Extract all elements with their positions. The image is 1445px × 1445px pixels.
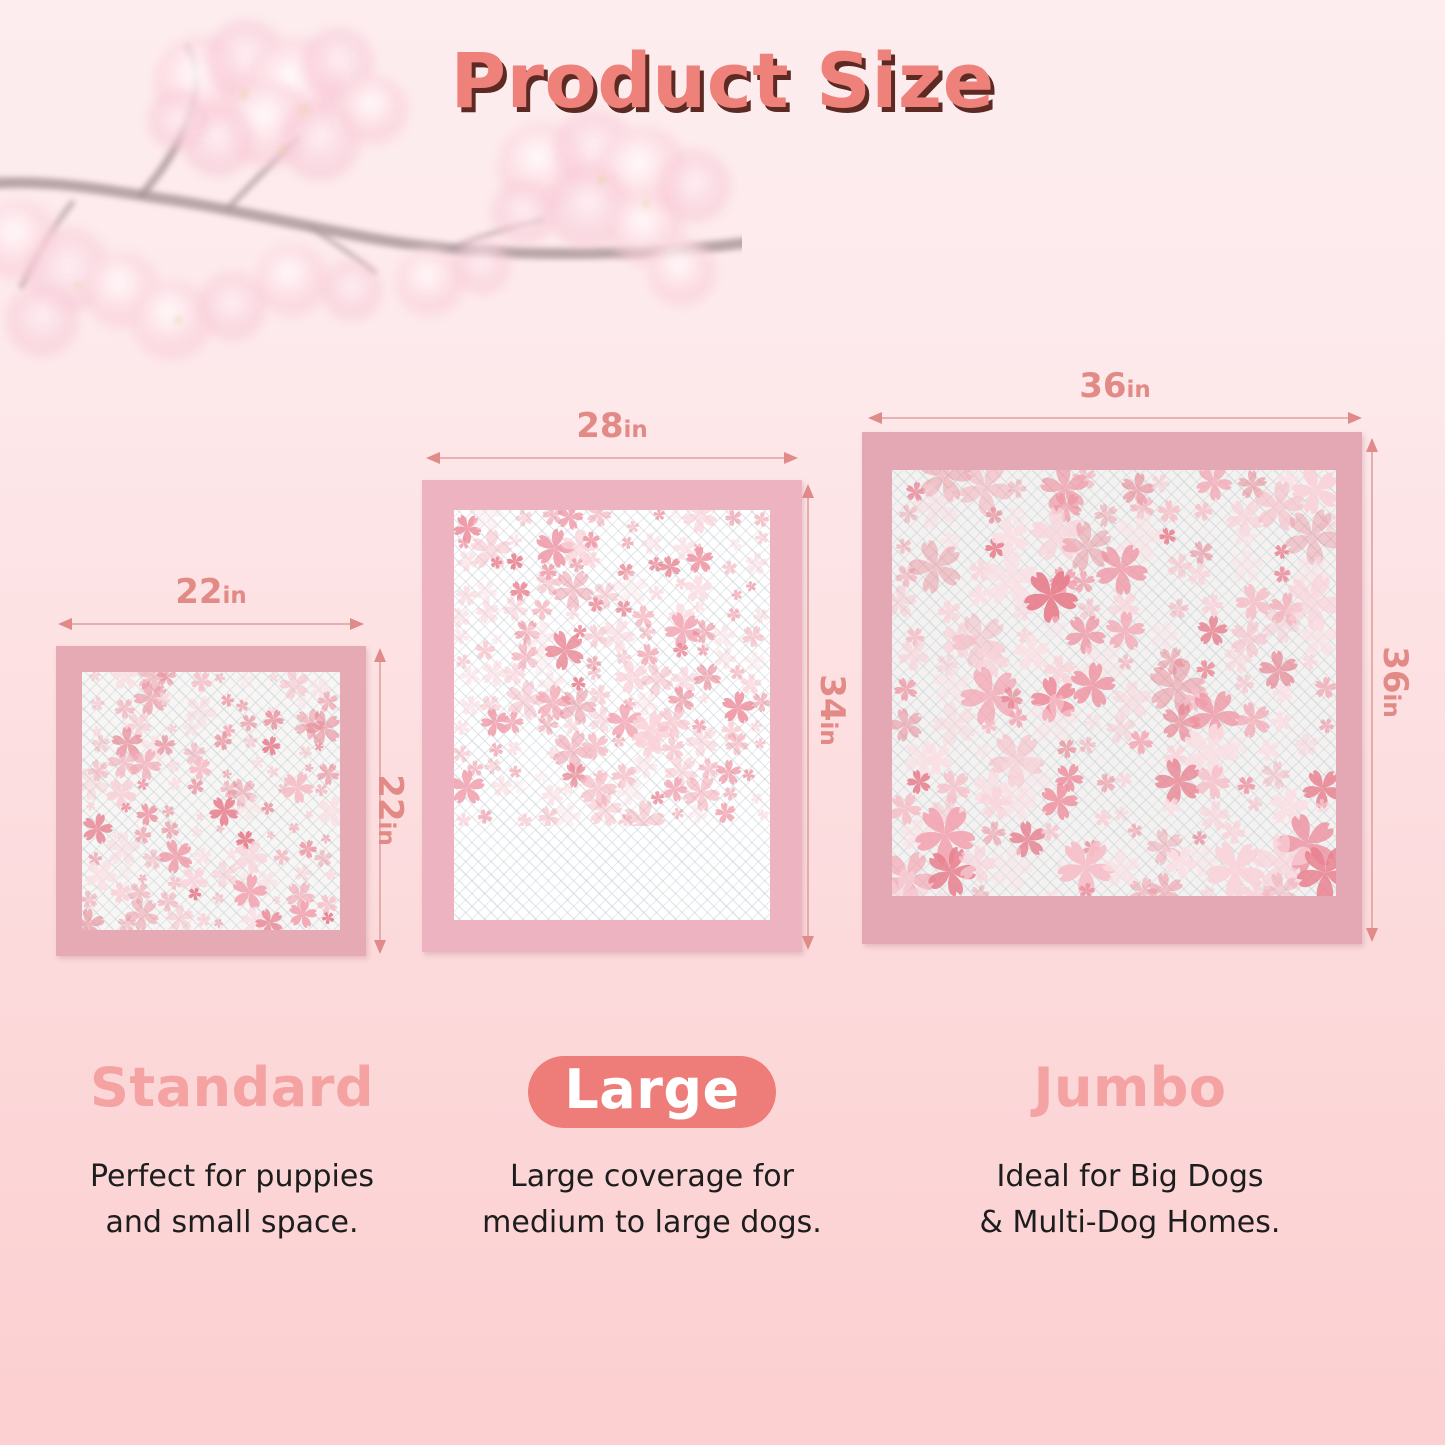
dimension-line-standard-width [56,612,366,636]
dimension-line-large-width [424,446,800,470]
description-line: and small space. [22,1200,442,1246]
sakura-pattern-standard [82,672,340,930]
description-line: Ideal for Big Dogs [920,1154,1340,1200]
product-name-large: Large [528,1056,775,1128]
dimension-label-jumbo-height: 36in [1375,627,1415,737]
pad-image-large [422,480,802,952]
sakura-pattern-large [454,510,770,826]
pad-inner-standard [82,672,340,930]
product-description-large: Large coverage for medium to large dogs. [442,1154,862,1246]
dimension-label-standard-width: 22in [56,572,366,612]
product-name-jumbo: Jumbo [920,1056,1340,1128]
product-labels-row: Standard Perfect for puppies and small s… [0,1056,1445,1386]
product-column-jumbo: Jumbo Ideal for Big Dogs & Multi-Dog Hom… [920,1056,1340,1246]
description-line: Large coverage for [442,1154,862,1200]
product-size-diagram: 22in 22in 28in 34in [0,0,1445,1010]
dimension-label-jumbo-width: 36in [866,366,1364,406]
product-name-standard: Standard [22,1056,442,1128]
sakura-pattern-jumbo [892,470,1336,896]
dimension-line-jumbo-width [866,406,1364,430]
product-description-standard: Perfect for puppies and small space. [22,1154,442,1246]
product-column-standard: Standard Perfect for puppies and small s… [22,1056,442,1246]
product-name-large-wrap: Large [442,1056,862,1128]
product-description-jumbo: Ideal for Big Dogs & Multi-Dog Homes. [920,1154,1340,1246]
description-line: Perfect for puppies [22,1154,442,1200]
pad-inner-large [454,510,770,920]
pad-image-standard [56,646,366,956]
pad-image-jumbo [862,432,1362,944]
description-line: & Multi-Dog Homes. [920,1200,1340,1246]
product-column-large: Large Large coverage for medium to large… [442,1056,862,1246]
dimension-label-standard-height: 22in [370,755,410,865]
dimension-label-large-height: 34in [812,655,852,765]
pad-inner-jumbo [892,470,1336,896]
description-line: medium to large dogs. [442,1200,862,1246]
dimension-label-large-width: 28in [424,406,800,446]
